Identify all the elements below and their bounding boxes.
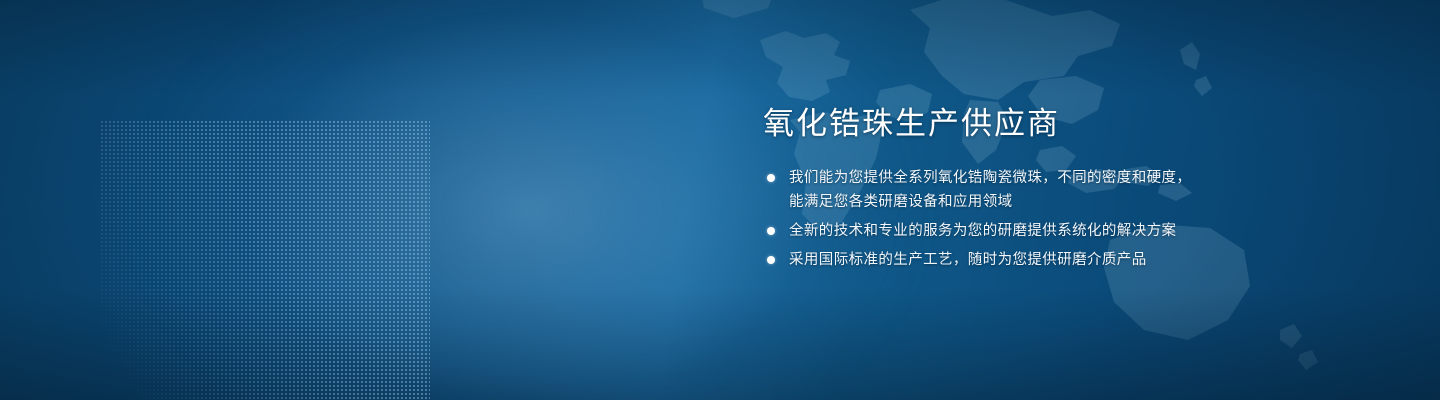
hero-banner: 氧化锆珠生产供应商 我们能为您提供全系列氧化锆陶瓷微珠，不同的密度和硬度， 能满…	[0, 0, 1440, 400]
list-item: 采用国际标准的生产工艺，随时为您提供研磨介质产品	[763, 248, 1383, 272]
bullet-dot-icon	[767, 256, 775, 264]
list-item: 全新的技术和专业的服务为您的研磨提供系统化的解决方案	[763, 219, 1383, 243]
bullet-text-line: 我们能为您提供全系列氧化锆陶瓷微珠，不同的密度和硬度，	[789, 166, 1383, 190]
feature-bullet-list: 我们能为您提供全系列氧化锆陶瓷微珠，不同的密度和硬度， 能满足您各类研磨设备和应…	[763, 166, 1383, 272]
zirconia-bead-photo	[95, 0, 755, 400]
bullet-text-line: 全新的技术和专业的服务为您的研磨提供系统化的解决方案	[789, 219, 1383, 243]
bullet-dot-icon	[767, 174, 775, 182]
bullet-dot-icon	[767, 227, 775, 235]
bullet-text-line: 采用国际标准的生产工艺，随时为您提供研磨介质产品	[789, 248, 1383, 272]
banner-copy: 氧化锆珠生产供应商 我们能为您提供全系列氧化锆陶瓷微珠，不同的密度和硬度， 能满…	[763, 104, 1383, 272]
list-item: 我们能为您提供全系列氧化锆陶瓷微珠，不同的密度和硬度， 能满足您各类研磨设备和应…	[763, 166, 1383, 214]
bullet-text-line: 能满足您各类研磨设备和应用领域	[789, 190, 1383, 214]
page-title: 氧化锆珠生产供应商	[763, 104, 1383, 144]
